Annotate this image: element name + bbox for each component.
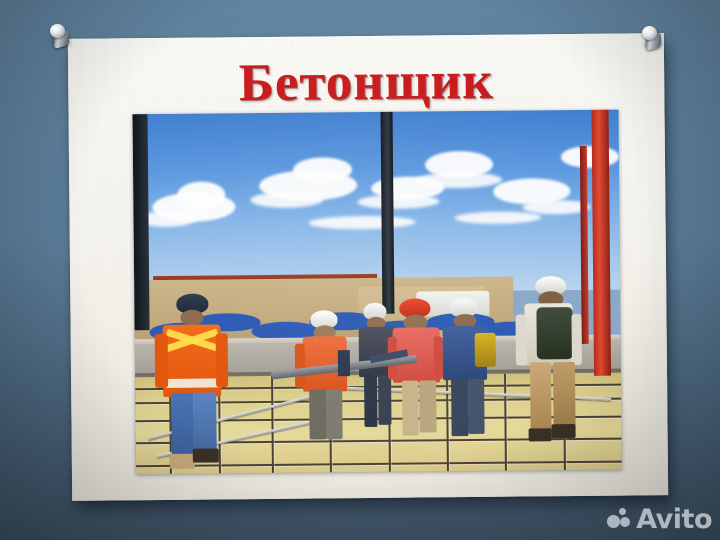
sky-layer xyxy=(133,110,621,295)
photo-construction-workers xyxy=(133,110,622,475)
worker-foreground xyxy=(149,293,258,474)
worker-with-equipment xyxy=(436,298,501,443)
concrete-pump-boom xyxy=(591,110,611,377)
card-surface: Бетонщик xyxy=(68,33,668,501)
top-left-pin xyxy=(48,24,74,54)
avito-wordmark: Avito xyxy=(636,504,712,535)
avito-watermark: Avito xyxy=(607,504,712,534)
left-post xyxy=(133,114,150,330)
worker-right-coveralls xyxy=(513,275,592,449)
page-title: Бетонщик xyxy=(68,49,665,115)
pinned-slide-card: Бетонщик xyxy=(68,33,668,501)
pin-head-icon xyxy=(50,24,65,38)
screed-machine xyxy=(271,349,417,394)
pin-head-icon xyxy=(642,26,657,40)
concrete-pump-hose xyxy=(380,112,394,314)
avito-dots-icon xyxy=(607,507,631,531)
top-right-pin xyxy=(640,26,666,56)
